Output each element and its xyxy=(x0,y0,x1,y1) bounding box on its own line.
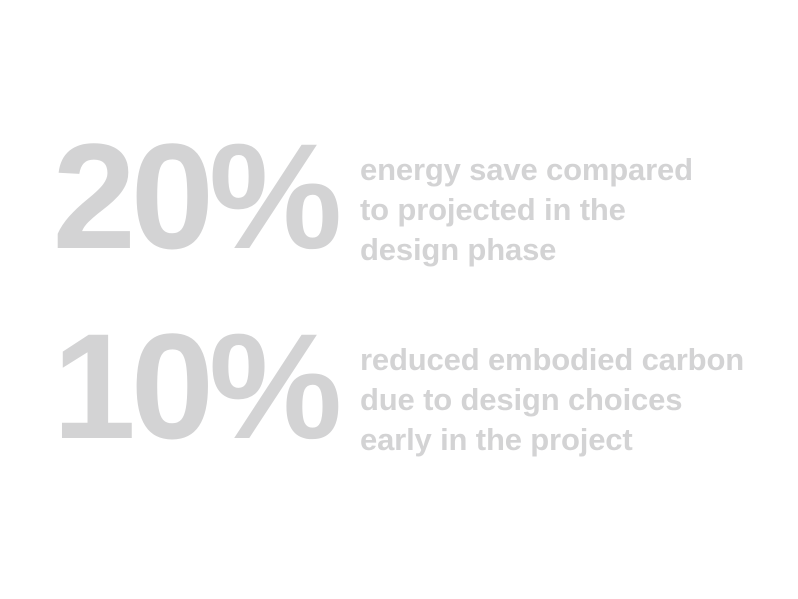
stats-board: 20% energy save compared to projected in… xyxy=(0,0,798,599)
stat-caption-line: to projected in the xyxy=(360,190,798,230)
stat-caption-line: reduced embodied carbon xyxy=(360,340,798,380)
stat-caption: energy save compared to projected in the… xyxy=(337,138,798,270)
stat-caption-line: due to design choices xyxy=(360,380,798,420)
stat-caption-line: early in the project xyxy=(360,420,798,460)
stat-row: 20% energy save compared to projected in… xyxy=(0,138,798,270)
stat-caption-line: design phase xyxy=(360,230,798,270)
stat-caption-line: energy save compared xyxy=(360,150,798,190)
stat-row: 10% reduced embodied carbon due to desig… xyxy=(0,328,798,460)
stat-figure-value: 10% xyxy=(0,328,337,445)
stat-figure-value: 20% xyxy=(0,138,337,255)
stat-caption: reduced embodied carbon due to design ch… xyxy=(337,328,798,460)
